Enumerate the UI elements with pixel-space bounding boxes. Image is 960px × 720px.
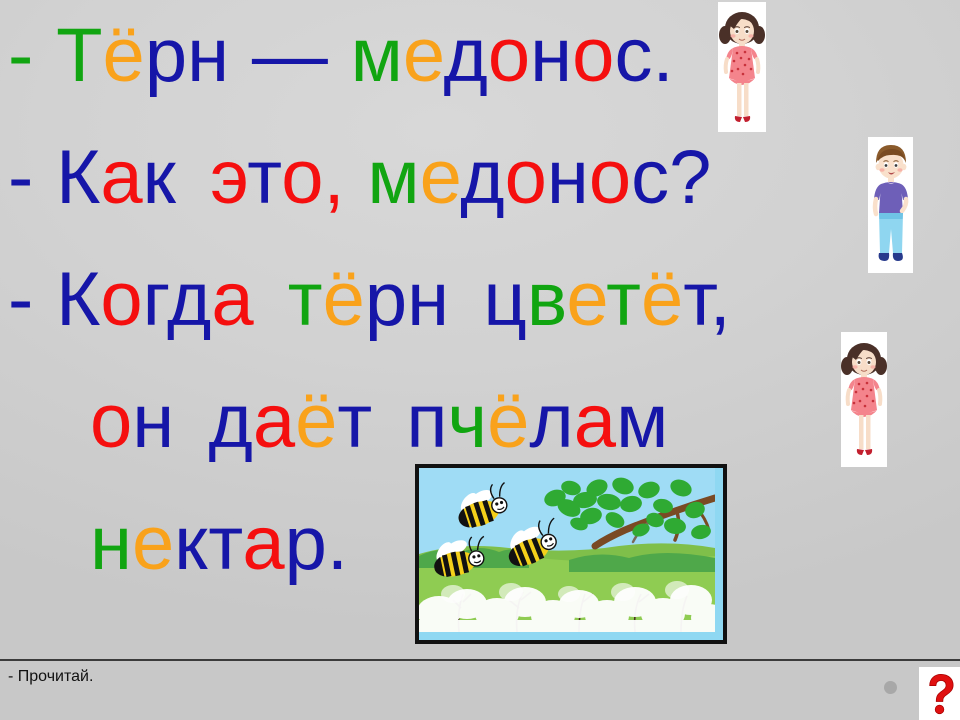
text-run: с (631, 135, 669, 220)
text-line-5: нектар. (90, 506, 348, 582)
text-run: а (242, 501, 284, 586)
text-run: т (247, 135, 281, 220)
text-run: м (616, 379, 668, 464)
text-run: ё (103, 13, 145, 98)
text-run: н (90, 501, 132, 586)
text-run: кт (174, 501, 242, 586)
text-run: ё (323, 257, 365, 342)
text-run: н (132, 379, 174, 464)
text-run: о (572, 13, 614, 98)
text-run: - (8, 257, 33, 342)
text-run: ц (483, 257, 527, 342)
text-run: п (406, 379, 447, 464)
text-run: н (530, 13, 572, 98)
text-run: е (132, 501, 174, 586)
slide-canvas: -Тёрн—медонос. -Какэто,медонос? -Когдатё… (0, 0, 960, 720)
text-run: К (56, 257, 100, 342)
text-run: ч (448, 379, 488, 464)
text-run: о (589, 135, 631, 220)
text-run: е (566, 257, 606, 342)
footer-instruction: - Прочитай. (8, 668, 93, 686)
text-run: м (351, 13, 403, 98)
bees-illustration (419, 468, 715, 632)
text-run: о (488, 13, 530, 98)
text-run: - (8, 135, 33, 220)
text-run: с. (614, 13, 673, 98)
text-run: э (210, 135, 247, 220)
text-run: о (505, 135, 547, 220)
text-run: ё (641, 257, 683, 342)
text-run: гд (143, 257, 212, 342)
text-run: , (323, 135, 344, 220)
text-line-1: -Тёрн—медонос. (8, 18, 674, 94)
text-run: ? (669, 135, 711, 220)
text-line-2: -Какэто,медонос? (8, 140, 711, 216)
text-run: ё (295, 379, 337, 464)
cartoon-girl-image-middle (841, 332, 887, 467)
text-run: н (547, 135, 589, 220)
boy-illustration (868, 137, 913, 273)
text-run: е (403, 13, 444, 98)
text-line-4: ондаётпчёлам (90, 384, 668, 460)
text-run: о (281, 135, 323, 220)
help-question-button[interactable] (919, 667, 960, 720)
text-run: а (211, 257, 253, 342)
question-mark-icon (925, 673, 955, 715)
text-run: рн (365, 257, 449, 342)
text-run: о (90, 379, 132, 464)
text-run: - (8, 13, 33, 98)
bees-over-meadow-image (415, 464, 727, 644)
text-run: в (527, 257, 567, 342)
text-run: д (208, 379, 252, 464)
text-run: а (100, 135, 142, 220)
text-run: т (606, 257, 641, 342)
girl-illustration (841, 332, 887, 467)
text-run: а (574, 379, 616, 464)
text-run: е (420, 135, 461, 220)
text-run: о (100, 257, 142, 342)
text-run: — (252, 13, 328, 98)
text-run: т (337, 379, 372, 464)
text-run: д (460, 135, 504, 220)
text-run: рн (145, 13, 229, 98)
footer-dot-marker (884, 681, 897, 694)
text-run: т (288, 257, 323, 342)
cartoon-boy-image (868, 137, 913, 273)
text-run: Т (56, 13, 102, 98)
text-run: м (367, 135, 419, 220)
footer-divider (0, 659, 960, 661)
girl-illustration (718, 2, 766, 132)
text-run: т, (683, 257, 731, 342)
text-run: ё (487, 379, 529, 464)
text-run: л (529, 379, 573, 464)
cartoon-girl-image-top (718, 2, 766, 132)
text-run: р. (285, 501, 348, 586)
text-run: к (143, 135, 176, 220)
text-run: д (444, 13, 488, 98)
text-run: К (56, 135, 100, 220)
text-run: а (253, 379, 295, 464)
text-line-3: -Когдатёрнцветёт, (8, 262, 731, 338)
